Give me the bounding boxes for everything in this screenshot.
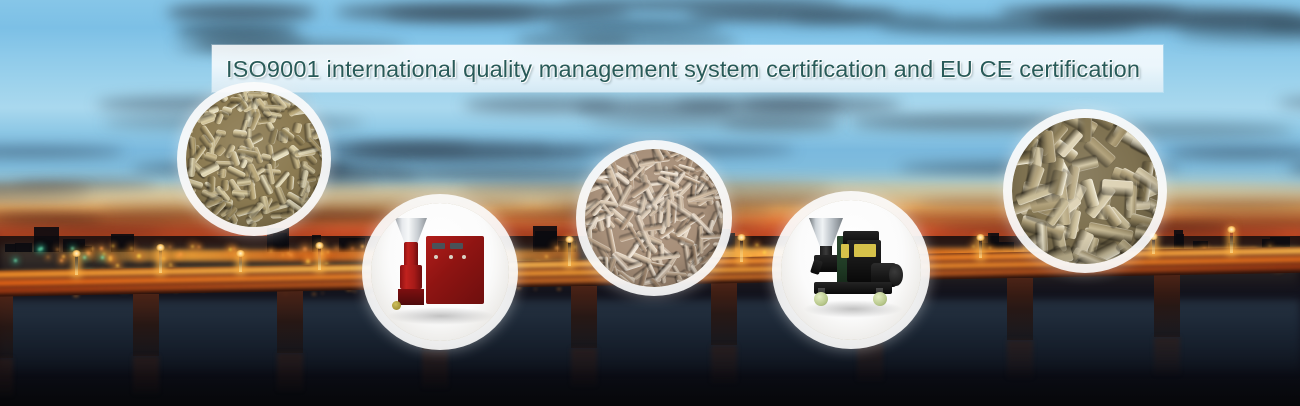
bridge-pier-reflection xyxy=(277,353,303,391)
wood-pellets-closeup[interactable] xyxy=(186,91,322,227)
city-light-dot xyxy=(60,259,63,262)
city-light-dot xyxy=(307,260,310,263)
bridge-pier xyxy=(277,291,303,353)
bridge-lamp-head xyxy=(565,236,574,243)
city-light-dot xyxy=(91,247,94,250)
city-light-dot xyxy=(361,245,364,248)
city-light-dot xyxy=(62,255,65,258)
city-light-reflection xyxy=(534,288,537,290)
city-light-dot xyxy=(282,254,284,256)
bridge-pier xyxy=(0,296,13,358)
long-wood-pellets[interactable] xyxy=(585,149,723,287)
city-light-dot xyxy=(100,247,103,250)
skyline-building xyxy=(43,240,53,252)
long-wood-pellets-content xyxy=(585,149,723,287)
pellet-texture xyxy=(186,91,322,227)
bridge-lamp-head xyxy=(72,250,81,257)
bridge-pier-reflection xyxy=(857,343,883,381)
skyline-building xyxy=(267,228,289,252)
city-light-dot xyxy=(290,254,292,256)
bridge-pier-reflection xyxy=(133,356,159,394)
bridge-lamp-head xyxy=(1227,226,1236,233)
pellet xyxy=(312,220,322,227)
city-light-dot xyxy=(179,253,182,256)
city-light-dot xyxy=(723,251,725,253)
bridge-lamp-pole xyxy=(159,248,162,273)
bridge-pier-reflection xyxy=(711,345,737,383)
hero-banner: ISO9001 international quality management… xyxy=(0,0,1300,406)
city-light-dot xyxy=(756,244,758,246)
river-water xyxy=(0,300,1300,370)
city-light-reflection xyxy=(557,288,561,290)
pellet-texture xyxy=(585,149,723,287)
bridge-pier xyxy=(571,286,597,348)
green-flat-die-pellet-mill-content xyxy=(781,200,921,340)
green-flat-die-pellet-mill[interactable] xyxy=(781,200,921,340)
city-light-dot xyxy=(109,256,112,259)
city-light-dot xyxy=(555,246,559,250)
pellet xyxy=(191,210,205,218)
bridge-lamp-head xyxy=(976,234,985,241)
city-light-dot xyxy=(363,253,367,257)
bridge-lamp-head xyxy=(315,242,324,249)
city-light-dot xyxy=(989,247,991,249)
city-light-dot xyxy=(198,246,200,248)
bridge-pier-reflection xyxy=(1007,340,1033,378)
city-light-dot xyxy=(103,253,105,255)
bridge-lamp-head xyxy=(156,244,165,251)
bridge-lamp-pole xyxy=(740,238,743,262)
city-light-reflection xyxy=(312,293,316,295)
bridge-pier xyxy=(711,283,737,345)
city-light-dot xyxy=(169,246,171,248)
wood-pellets-closeup-content xyxy=(186,91,322,227)
red-pellet-mill-machine-content xyxy=(371,203,509,341)
skyline-building xyxy=(533,226,557,252)
city-light-dot-cyan xyxy=(40,247,43,250)
bridge-pier-reflection xyxy=(0,358,13,396)
city-light-dot xyxy=(137,254,141,258)
bridge-pier xyxy=(133,294,159,356)
city-light-dot-cyan xyxy=(14,259,17,262)
skyline-building xyxy=(15,243,32,252)
pellet xyxy=(313,206,322,213)
city-light-dot-cyan xyxy=(83,256,86,259)
city-light-reflection xyxy=(321,292,324,294)
skyline-building xyxy=(5,244,16,252)
bridge-lamp-pole xyxy=(75,254,78,275)
pellet-texture xyxy=(1012,118,1158,264)
large-biomass-pellets[interactable] xyxy=(1012,118,1158,264)
bridge-pier-reflection xyxy=(571,348,597,386)
bridge-pier xyxy=(1154,275,1180,337)
banner-headline: ISO9001 international quality management… xyxy=(226,52,1156,86)
city-light-dot-cyan xyxy=(101,256,104,259)
city-light-dot xyxy=(303,247,307,251)
bridge-pier-reflection xyxy=(422,350,448,388)
city-light-reflection xyxy=(352,290,357,292)
city-light-dot xyxy=(763,251,766,254)
city-light-dot xyxy=(56,248,59,251)
bridge-pier xyxy=(1007,278,1033,340)
bridge-pier-reflection xyxy=(1154,337,1180,375)
bridge-lamp-head xyxy=(737,234,746,241)
city-light-dot xyxy=(47,256,49,258)
bridge-lamp-pole xyxy=(979,238,982,258)
bridge-lamp-pole xyxy=(568,240,571,266)
bridge-lamp-pole xyxy=(318,246,321,270)
bridge-lamp-pole xyxy=(1230,230,1233,253)
city-light-dot xyxy=(545,255,548,258)
city-light-dot xyxy=(87,252,90,255)
bridge-lamp-head xyxy=(236,250,245,257)
city-light-dot xyxy=(233,248,235,250)
large-biomass-pellets-content xyxy=(1012,118,1158,264)
city-light-dot xyxy=(327,251,329,253)
red-pellet-mill-machine[interactable] xyxy=(371,203,509,341)
